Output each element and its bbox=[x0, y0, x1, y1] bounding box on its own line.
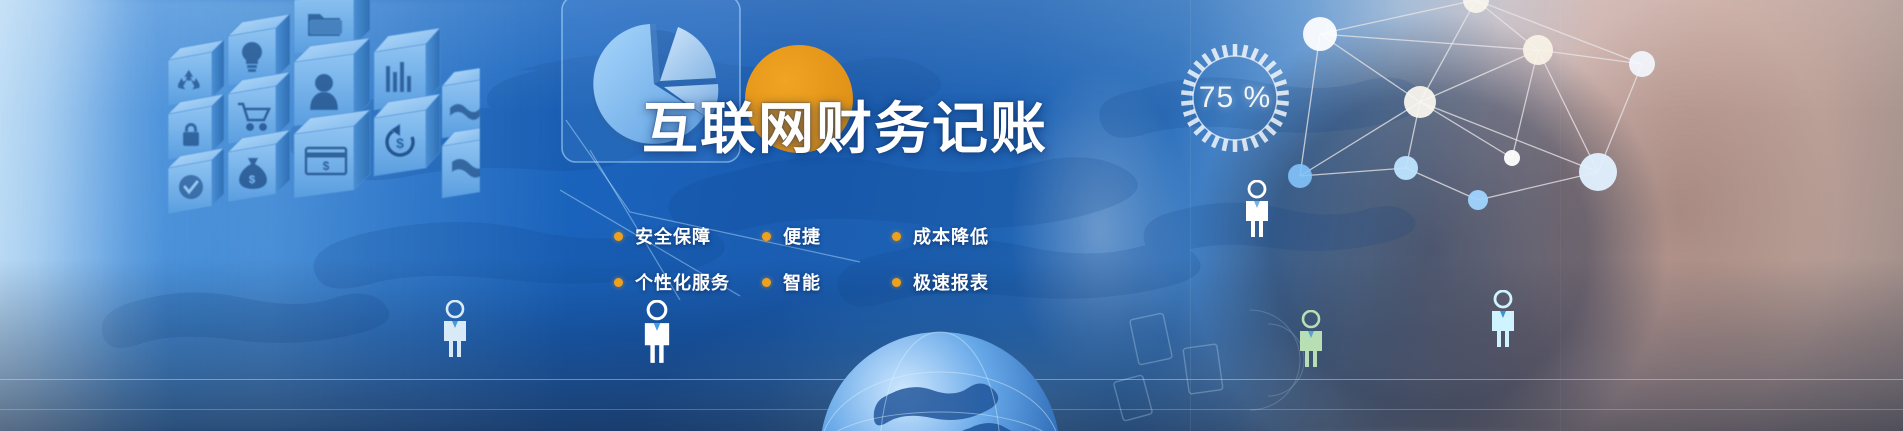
feature-item-cost-reduction[interactable]: 成本降低 bbox=[892, 223, 989, 249]
feature-label: 安全保障 bbox=[635, 223, 711, 249]
feature-item-security[interactable]: 安全保障 bbox=[614, 223, 762, 249]
bullet-dot-icon bbox=[892, 232, 901, 241]
feature-row-2: 个性化服务 智能 极速报表 bbox=[614, 259, 1034, 305]
bullet-dot-icon bbox=[762, 232, 771, 241]
bullet-dot-icon bbox=[762, 278, 771, 287]
banner-title: 互联网财务记账 bbox=[642, 99, 1048, 159]
feature-label: 智能 bbox=[783, 269, 821, 295]
bullet-dot-icon bbox=[892, 278, 901, 287]
feature-label: 便捷 bbox=[783, 223, 821, 249]
bullet-dot-icon bbox=[614, 232, 623, 241]
feature-item-personalized-service[interactable]: 个性化服务 bbox=[614, 269, 762, 295]
feature-label: 极速报表 bbox=[913, 269, 989, 295]
feature-item-intelligent[interactable]: 智能 bbox=[762, 269, 892, 295]
feature-row-1: 安全保障 便捷 成本降低 bbox=[614, 213, 1034, 259]
feature-label: 个性化服务 bbox=[635, 269, 730, 295]
feature-item-fast-reports[interactable]: 极速报表 bbox=[892, 269, 989, 295]
marketing-banner: $ bbox=[0, 0, 1903, 431]
bullet-dot-icon bbox=[614, 278, 623, 287]
feature-list: 安全保障 便捷 成本降低 个性化服务 智能 bbox=[614, 213, 1034, 305]
feature-item-convenient[interactable]: 便捷 bbox=[762, 223, 892, 249]
banner-content: 互联网财务记账 安全保障 便捷 成本降低 个性化服务 bbox=[0, 0, 1903, 431]
feature-label: 成本降低 bbox=[913, 223, 989, 249]
